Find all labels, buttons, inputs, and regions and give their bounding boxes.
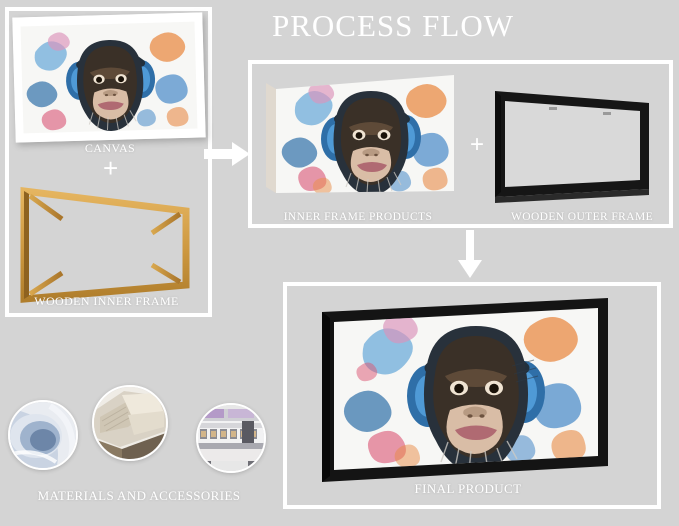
black-floater-frame-icon xyxy=(491,85,656,203)
process-flow-infographic: PROCESS FLOW xyxy=(0,0,679,526)
wood-stack-icon xyxy=(92,385,168,461)
arrow-canvas-to-inner-frame xyxy=(204,140,252,168)
canvas-print-icon xyxy=(12,12,205,142)
plus-operator-middle: + xyxy=(470,133,484,157)
stretched-canvas-icon xyxy=(258,69,458,199)
wooden-inner-frame-label: WOODEN INNER FRAME xyxy=(14,294,199,309)
framed-canvas-icon xyxy=(316,296,616,486)
arrow-inner-frame-to-final xyxy=(455,230,485,280)
materials-and-accessories-label: MATERIALS AND ACCESSORIES xyxy=(8,488,270,504)
wooden-stretcher-frame-icon xyxy=(18,185,193,303)
printer-icon xyxy=(196,403,266,473)
page-title: PROCESS FLOW xyxy=(272,8,514,44)
wooden-outer-frame-label: WOODEN OUTER FRAME xyxy=(491,211,673,223)
canvas-roll-icon xyxy=(8,400,78,470)
final-product-label: FINAL PRODUCT xyxy=(333,481,603,497)
inner-frame-products-label: INNER FRAME PRODUCTS xyxy=(258,211,458,223)
plus-operator-inputs: + xyxy=(103,155,118,181)
